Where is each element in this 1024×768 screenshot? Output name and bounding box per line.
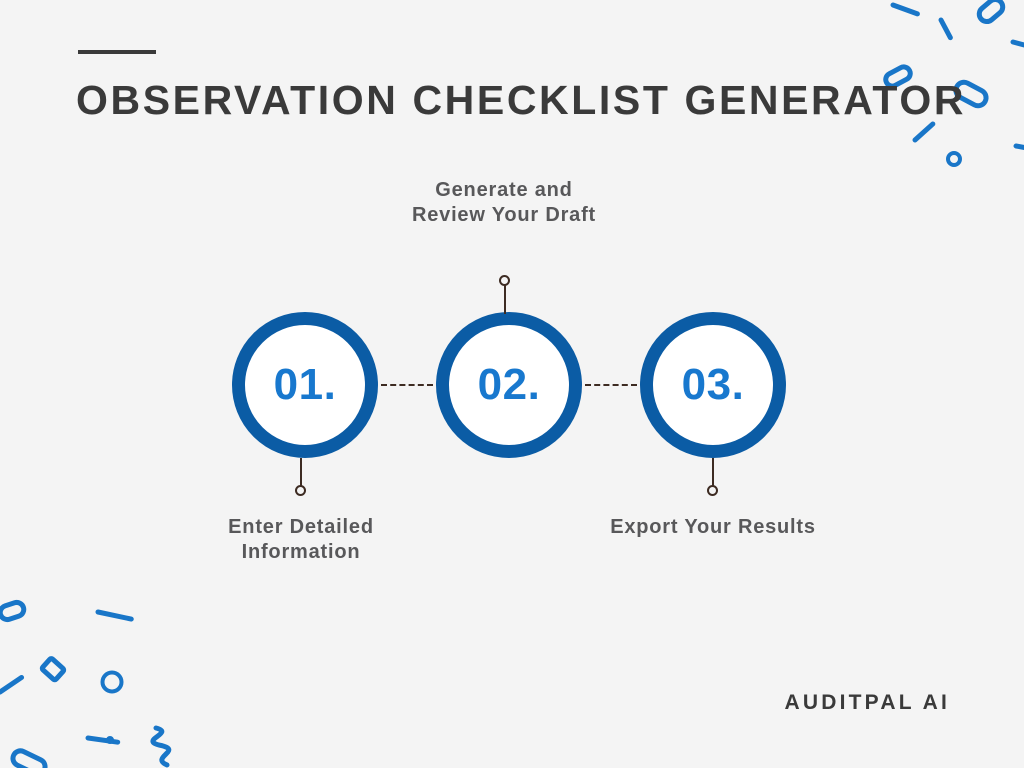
confetti-dash xyxy=(915,124,933,140)
step-stem-dot-3 xyxy=(707,485,718,496)
confetti-dash xyxy=(1016,146,1024,149)
confetti-squiggle xyxy=(153,728,169,765)
confetti-rounded-rect xyxy=(0,601,26,622)
confetti-dash xyxy=(893,5,917,14)
connector-step1-step2 xyxy=(381,384,433,386)
step-stem-dot-1 xyxy=(295,485,306,496)
confetti-dash xyxy=(941,20,950,38)
confetti-rounded-rect xyxy=(10,748,47,768)
step-label-3: Export Your Results xyxy=(608,515,818,540)
connector-step2-step3 xyxy=(585,384,637,386)
step-stem-2 xyxy=(504,283,506,314)
step-number-1: 01. xyxy=(274,363,337,407)
confetti-dash xyxy=(88,738,118,742)
step-circle-2[interactable]: 02. xyxy=(436,312,582,458)
confetti-diamond xyxy=(41,658,64,681)
step-label-1: Enter Detailed Information xyxy=(190,515,412,565)
confetti-ring xyxy=(108,738,112,742)
step-circle-3[interactable]: 03. xyxy=(640,312,786,458)
step-number-3: 03. xyxy=(682,363,745,407)
step-number-2: 02. xyxy=(478,363,541,407)
confetti-rounded-rect xyxy=(976,0,1006,25)
slide-canvas: OBSERVATION CHECKLIST GENERATOR 01. Ente… xyxy=(0,0,1024,768)
step-stem-dot-2 xyxy=(499,275,510,286)
step-label-2: Generate and Review Your Draft xyxy=(399,178,609,228)
confetti-ring xyxy=(948,153,960,165)
confetti-dash xyxy=(0,677,22,692)
confetti-dash xyxy=(98,612,131,619)
page-title: OBSERVATION CHECKLIST GENERATOR xyxy=(76,76,966,124)
title-accent-rule xyxy=(78,50,156,54)
confetti-ring xyxy=(103,673,122,692)
brand-wordmark: AUDITPAL AI xyxy=(785,691,950,715)
confetti-dash xyxy=(1013,42,1024,48)
step-circle-1[interactable]: 01. xyxy=(232,312,378,458)
